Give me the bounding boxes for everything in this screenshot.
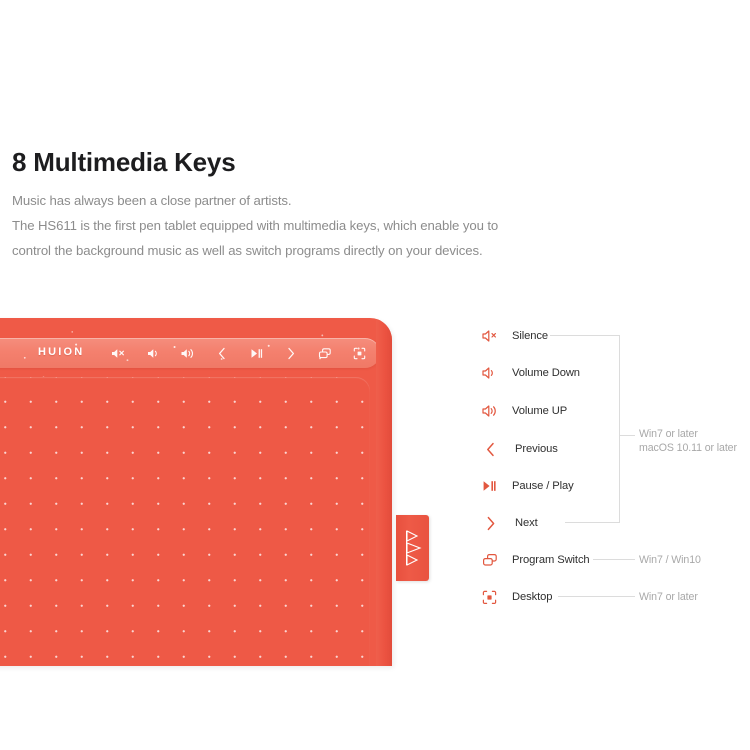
bracket-bottom-arm <box>565 522 619 523</box>
bracket-top-arm <box>550 335 619 336</box>
program-switch-icon[interactable] <box>317 345 334 362</box>
product-feature-page: 8 Multimedia Keys Music has always been … <box>0 0 750 750</box>
desktop-note: Win7 or later <box>639 590 698 604</box>
pause-play-icon[interactable] <box>248 345 265 362</box>
legend-label: Volume Down <box>512 367 580 379</box>
legend-label: Silence <box>512 330 548 342</box>
legend-row-next: Next <box>485 512 538 534</box>
program-switch-note: Win7 / Win10 <box>639 553 701 567</box>
mute-icon[interactable] <box>110 345 127 362</box>
legend-label: Desktop <box>512 591 552 603</box>
description-block: Music has always been a close partner of… <box>12 194 572 270</box>
desktop-icon[interactable] <box>351 345 368 362</box>
drawing-area-dot-pattern <box>0 377 370 666</box>
description-line-1: Music has always been a close partner of… <box>12 194 572 207</box>
legend-row-previous: Previous <box>485 438 558 460</box>
legend-label: Previous <box>515 443 558 455</box>
desktop-icon <box>482 587 504 607</box>
volume-down-icon[interactable] <box>144 345 161 362</box>
pen-nib-arrow-logo <box>396 515 429 581</box>
legend-row-pause-play: Pause / Play <box>482 475 574 497</box>
volume-down-icon <box>482 363 504 383</box>
tablet-drawing-area[interactable] <box>0 377 370 666</box>
legend-row-volume-up: Volume UP <box>482 400 567 422</box>
bracket-stub <box>619 435 635 436</box>
description-line-3: control the background music as well as … <box>12 244 572 257</box>
page-title: 8 Multimedia Keys <box>12 147 235 178</box>
legend-label: Volume UP <box>512 405 567 417</box>
pause-play-icon <box>482 476 504 496</box>
legend-row-desktop: Desktop <box>482 586 552 608</box>
huion-wordmark: HUION <box>38 346 84 358</box>
volume-up-icon[interactable] <box>179 345 196 362</box>
legend-label: Next <box>515 517 538 529</box>
program-switch-icon <box>482 550 504 570</box>
legend-row-silence: Silence <box>482 325 548 347</box>
next-icon[interactable] <box>282 345 299 362</box>
program-switch-connector <box>593 559 635 560</box>
legend-row-program-switch: Program Switch <box>482 549 590 571</box>
mute-icon <box>482 326 504 346</box>
tablet-illustration: HUION <box>0 318 432 668</box>
os-note-line-1: Win7 or later <box>639 428 698 440</box>
os-note-line-2: macOS 10.11 or later <box>639 442 737 454</box>
bracket-spine <box>619 335 620 523</box>
next-icon <box>485 513 507 533</box>
tablet-right-edge <box>376 318 392 666</box>
desktop-connector <box>558 596 635 597</box>
legend-label: Program Switch <box>512 554 590 566</box>
volume-up-icon <box>482 401 504 421</box>
description-line-2: The HS611 is the first pen tablet equipp… <box>12 219 572 232</box>
tablet-body: HUION <box>0 318 392 666</box>
media-key-legend: Silence Volume Down Volume UP <box>482 322 750 622</box>
previous-icon[interactable] <box>213 345 230 362</box>
previous-icon <box>485 439 507 459</box>
legend-row-volume-down: Volume Down <box>482 362 580 384</box>
legend-label: Pause / Play <box>512 480 574 492</box>
media-key-row <box>110 343 368 363</box>
bracket-os-note: Win7 or later macOS 10.11 or later <box>639 427 737 456</box>
